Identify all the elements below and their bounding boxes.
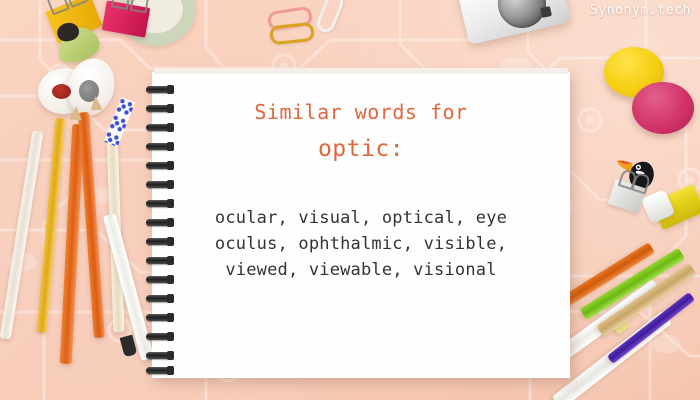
binder-clip-arm — [111, 0, 131, 10]
spiral-ring — [146, 219, 172, 226]
spiral-ring — [146, 257, 172, 264]
spiral-ring — [146, 86, 172, 93]
synonym-list: ocular, visual, optical, eye oculus, oph… — [181, 206, 541, 283]
spiral-ring — [146, 181, 172, 188]
site-logo: Synonym.tech — [590, 3, 691, 18]
desk-scene: Similar words for optic: ocular, visual,… — [0, 0, 700, 400]
spiral-ring — [146, 367, 172, 374]
spiral-ring — [146, 162, 172, 169]
spiral-ring — [146, 276, 172, 283]
spiral-binding — [146, 84, 172, 374]
binder-clip-arm — [130, 0, 151, 13]
spiral-ring — [146, 314, 172, 321]
spiral-ring — [146, 143, 172, 150]
spiral-ring — [146, 352, 172, 359]
spiral-ring — [146, 295, 172, 302]
synonym-line: ocular, visual, optical, eye — [181, 206, 541, 232]
pink-macaron — [632, 82, 694, 134]
spiral-ring — [146, 238, 172, 245]
synonym-line: oculus, ophthalmic, visible, — [181, 232, 541, 258]
page-title: Similar words for — [254, 100, 467, 124]
spiral-ring — [146, 124, 172, 131]
spiral-ring — [146, 333, 172, 340]
pencil-point — [70, 106, 83, 121]
pencil-point-2 — [90, 96, 103, 111]
notebook-page: Similar words for optic: ocular, visual,… — [152, 72, 570, 378]
spiral-ring — [146, 200, 172, 207]
stone-red-dot — [52, 84, 71, 99]
notebook-content: Similar words for optic: ocular, visual,… — [152, 72, 570, 378]
synonym-line: viewed, viewable, visional — [181, 258, 541, 284]
headword: optic: — [318, 136, 404, 162]
spiral-ring — [146, 105, 172, 112]
